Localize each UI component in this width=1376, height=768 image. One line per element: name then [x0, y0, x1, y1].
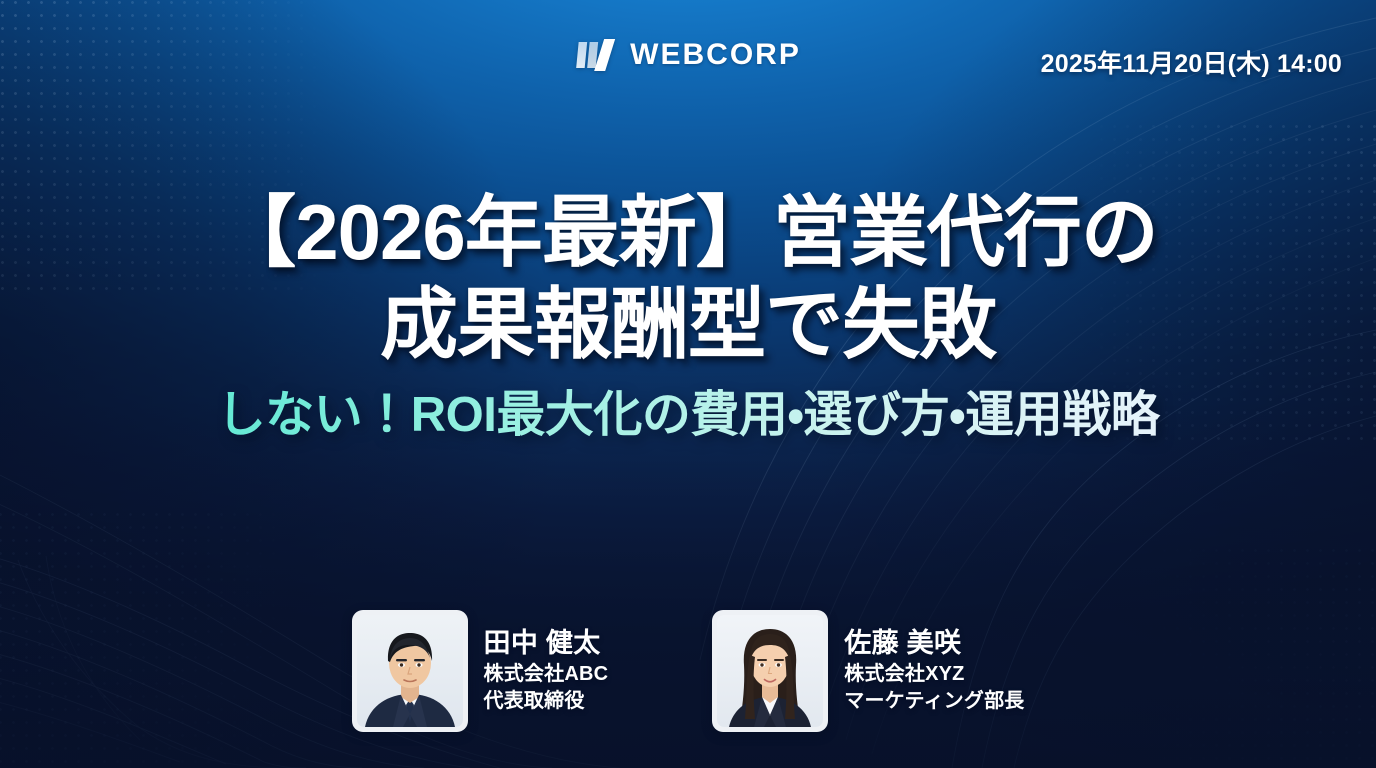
- speaker-name: 佐藤 美咲: [844, 628, 1024, 660]
- speaker-role: 代表取締役: [484, 690, 609, 714]
- webinar-title-slide: WEBCORP 2025年11月20日(木) 14:00 【2026年最新】営業…: [0, 0, 1376, 768]
- brand-logo: WEBCORP: [575, 38, 801, 72]
- webinar-datetime: 2025年11月20日(木) 14:00: [1041, 44, 1342, 80]
- slide-header: WEBCORP 2025年11月20日(木) 14:00: [0, 0, 1376, 112]
- speaker-company: 株式会社ABC: [484, 663, 609, 687]
- speaker-role: マーケティング部長: [844, 690, 1024, 714]
- title-line-1: 【2026年最新】営業代行の: [0, 186, 1376, 278]
- brand-logo-text: WEBCORP: [630, 38, 801, 72]
- speaker-card: 佐藤 美咲 株式会社XYZ マーケティング部長: [712, 610, 1024, 732]
- speaker-photo-male: [357, 615, 463, 727]
- speaker-photo-frame: [712, 610, 828, 732]
- subtitle: しない！ROI最大化の費用・選び方・運用戦略: [0, 386, 1376, 446]
- title-line-2: 成果報酬型で失敗: [0, 278, 1376, 370]
- speaker-name: 田中 健太: [484, 628, 609, 660]
- w-monogram-icon: [575, 38, 617, 72]
- speaker-list: 田中 健太 株式会社ABC 代表取締役: [0, 610, 1376, 732]
- title-block: 【2026年最新】営業代行の 成果報酬型で失敗 しない！ROI最大化の費用・選び…: [0, 186, 1376, 446]
- speaker-company: 株式会社XYZ: [844, 663, 1024, 687]
- speaker-meta: 佐藤 美咲 株式会社XYZ マーケティング部長: [844, 628, 1024, 713]
- speaker-card: 田中 健太 株式会社ABC 代表取締役: [352, 610, 609, 732]
- speaker-photo-female: [717, 615, 823, 727]
- speaker-meta: 田中 健太 株式会社ABC 代表取締役: [484, 628, 609, 713]
- speaker-photo-frame: [352, 610, 468, 732]
